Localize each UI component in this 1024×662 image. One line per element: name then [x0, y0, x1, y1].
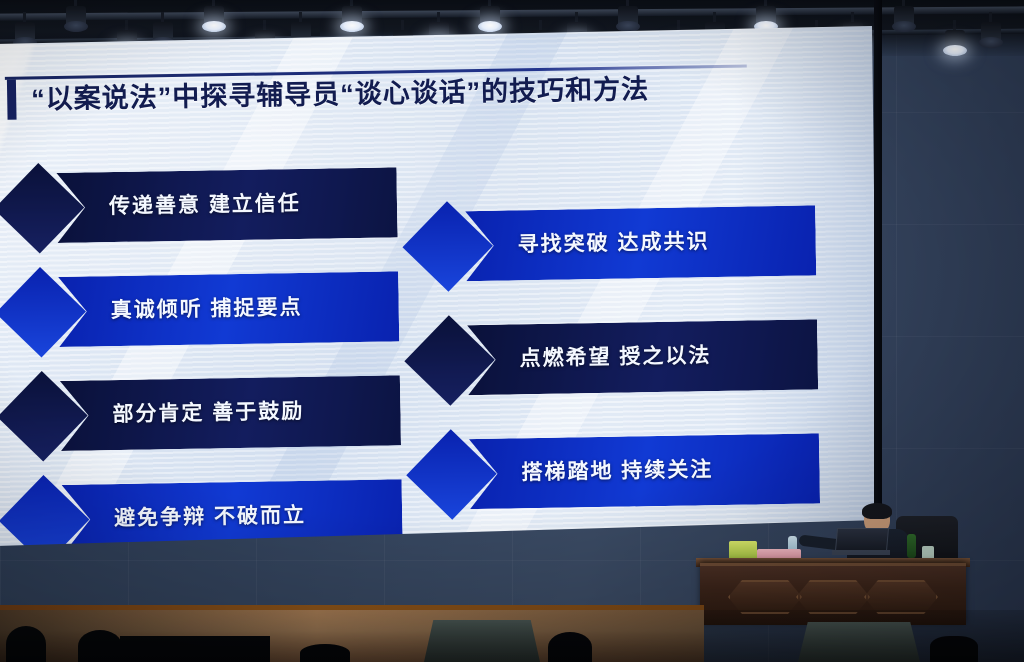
photo-vignette	[0, 0, 1024, 662]
photo-scene: “以案说法”中探寻辅导员“谈心谈话”的技巧和方法 传递善意 建立信任真诚倾听 捕…	[0, 0, 1024, 662]
